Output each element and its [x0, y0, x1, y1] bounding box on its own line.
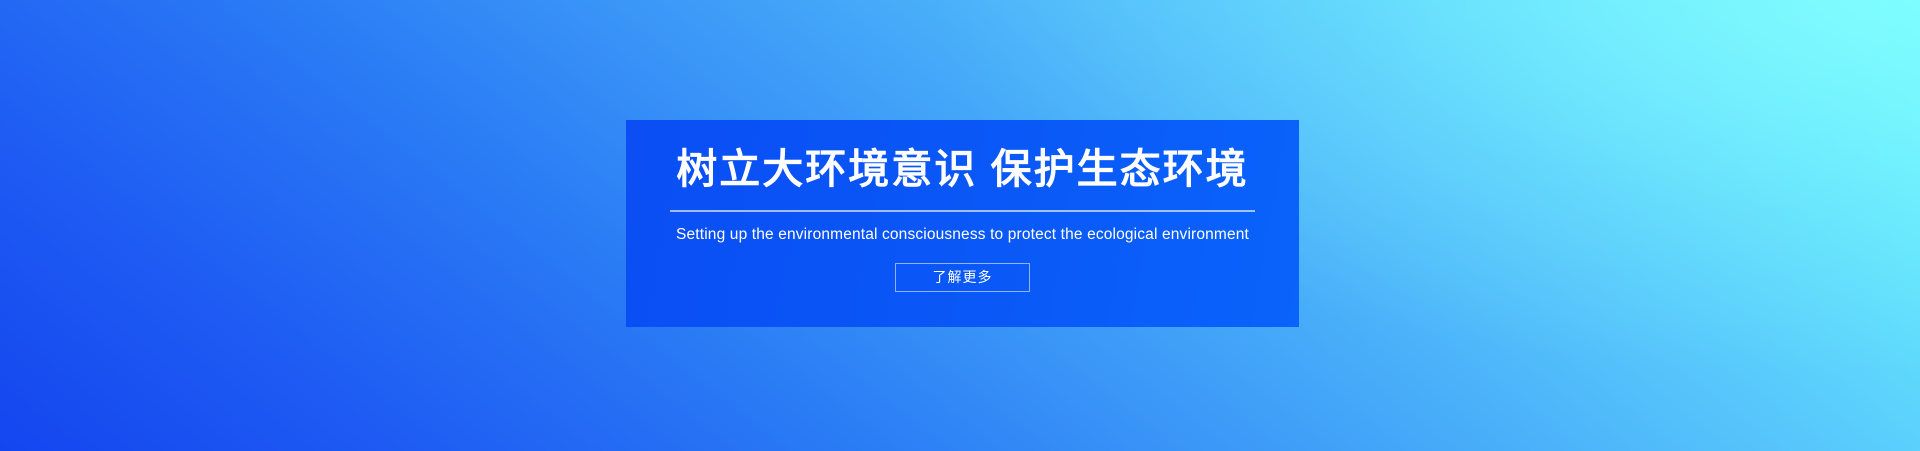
hero-subtitle: Setting up the environmental consciousne…	[626, 224, 1299, 246]
hero-divider	[670, 210, 1255, 212]
hero-content-panel: 树立大环境意识 保护生态环境 Setting up the environmen…	[626, 120, 1299, 327]
learn-more-button[interactable]: 了解更多	[895, 263, 1030, 292]
hero-cta-container: 了解更多	[626, 263, 1299, 292]
hero-banner: 树立大环境意识 保护生态环境 Setting up the environmen…	[0, 0, 1920, 451]
hero-title: 树立大环境意识 保护生态环境	[626, 144, 1299, 194]
